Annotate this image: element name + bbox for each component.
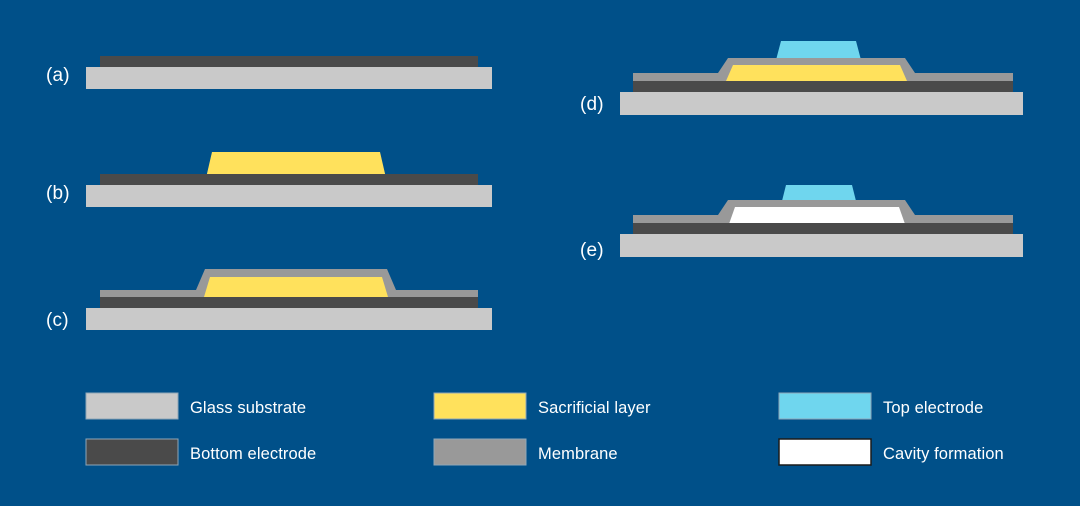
panel-e-label: (e) (580, 240, 604, 261)
legend-item-sacrificial-layer: Sacrificial layer (434, 393, 651, 419)
panel-b-glass-substrate (86, 185, 492, 207)
panel-d: (d) (580, 41, 1023, 115)
panel-e-bottom-electrode (633, 223, 1013, 234)
legend-label-membrane: Membrane (538, 445, 618, 463)
panel-c-sacrificial-layer (204, 277, 388, 297)
panel-d-top-electrode (776, 41, 861, 60)
legend-label-top-electrode: Top electrode (883, 399, 983, 417)
panel-d-glass-substrate (620, 92, 1023, 115)
legend-item-top-electrode: Top electrode (779, 393, 983, 419)
cavity-formation-swatch (779, 439, 871, 465)
legend-item-cavity-formation: Cavity formation (779, 439, 1004, 465)
panel-c-glass-substrate (86, 308, 492, 330)
legend-label-sacrificial-layer: Sacrificial layer (538, 399, 651, 417)
glass-substrate-swatch (86, 393, 178, 419)
panel-d-bottom-electrode (633, 81, 1013, 92)
legend: Glass substrate Bottom electrode Sacrifi… (86, 393, 1004, 465)
panel-e-cavity-formation (729, 207, 905, 224)
legend-label-bottom-electrode: Bottom electrode (190, 445, 316, 463)
legend-item-glass-substrate: Glass substrate (86, 393, 306, 419)
membrane-swatch (434, 439, 526, 465)
panel-d-label: (d) (580, 94, 604, 115)
panel-b-bottom-electrode (100, 174, 478, 185)
panel-c-label: (c) (46, 310, 69, 331)
legend-item-membrane: Membrane (434, 439, 618, 465)
panel-a-bottom-electrode (100, 56, 478, 67)
panel-e: (e) (580, 185, 1023, 261)
panel-b: (b) (46, 152, 492, 207)
legend-label-cavity-formation: Cavity formation (883, 445, 1004, 463)
sacrificial-layer-swatch (434, 393, 526, 419)
panel-a-glass-substrate (86, 67, 492, 89)
panel-b-label: (b) (46, 183, 70, 204)
legend-label-glass-substrate: Glass substrate (190, 399, 306, 417)
panel-e-top-electrode (782, 185, 856, 201)
top-electrode-swatch (779, 393, 871, 419)
panel-c: (c) (46, 269, 492, 331)
panel-a-label: (a) (46, 65, 70, 86)
panel-e-glass-substrate (620, 234, 1023, 257)
panel-d-sacrificial-layer (726, 65, 907, 81)
legend-item-bottom-electrode: Bottom electrode (86, 439, 316, 465)
panel-a: (a) (46, 56, 492, 89)
process-flow-figure: (a) (b) (c) (d) (0, 0, 1080, 506)
process-diagram-canvas: (a) (b) (c) (d) (0, 0, 1080, 506)
bottom-electrode-swatch (86, 439, 178, 465)
panel-c-bottom-electrode (100, 297, 478, 308)
